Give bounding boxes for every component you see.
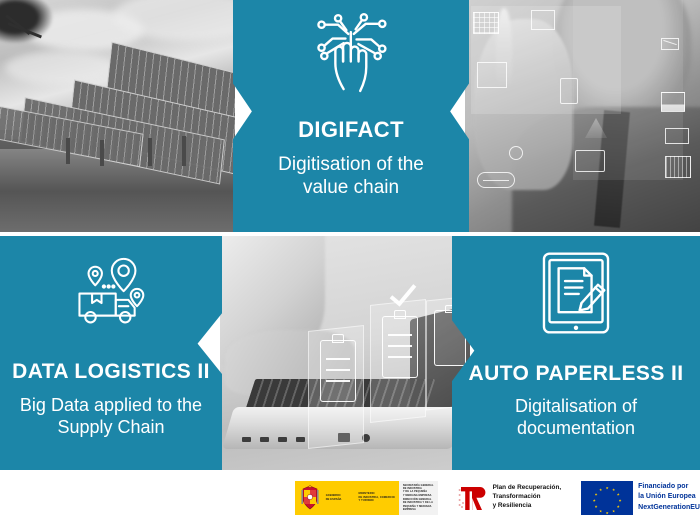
eu-flag-icon bbox=[581, 481, 633, 515]
eu-line-2: la Unión Europea bbox=[638, 492, 700, 502]
panel-auto-paperless[interactable]: AUTO PAPERLESS II Digitalisation of docu… bbox=[452, 236, 700, 470]
gob-side-4: Y MEDIANA EMPRESA bbox=[403, 494, 434, 497]
delivery-truck-location-icon bbox=[70, 254, 152, 330]
panel-post bbox=[148, 138, 152, 166]
circuit-hand-icon bbox=[305, 10, 397, 102]
laptop-port bbox=[242, 437, 251, 442]
clipboard-line bbox=[388, 345, 412, 347]
tablet-document-pencil-icon bbox=[538, 250, 614, 336]
clipboard-line bbox=[326, 380, 350, 382]
plan-de-recuperacion-logo: Plan de Recuperación, Transformación y R… bbox=[458, 483, 562, 513]
wrench-line bbox=[483, 180, 509, 181]
gob-label-block: GOBIERNO DE ESPAÑA bbox=[326, 494, 342, 501]
cloud-shape bbox=[5, 51, 115, 85]
spanish-coat-of-arms-icon bbox=[299, 485, 321, 511]
plan-line-1: Plan de Recuperación, bbox=[493, 484, 562, 493]
panel-post bbox=[182, 136, 186, 166]
clipboard-line bbox=[388, 356, 412, 358]
gob-line-5: Y TURISMO bbox=[359, 499, 395, 503]
gob-line-1: GOBIERNO bbox=[326, 494, 342, 498]
solar-farm-photo bbox=[0, 0, 235, 232]
panel-subtitle: Big Data applied to the Supply Chain bbox=[14, 394, 209, 439]
eu-label-block: Financiado por la Unión Europea NextGene… bbox=[638, 482, 700, 512]
eu-line-1: Financiado por bbox=[638, 482, 700, 492]
panel-post bbox=[66, 138, 70, 164]
panel-post bbox=[100, 140, 104, 166]
footer-logo-strip: GOBIERNO DE ESPAÑA MINISTERIO DE INDUSTR… bbox=[0, 470, 700, 525]
clipboard-line bbox=[388, 334, 412, 336]
clipboard-icon bbox=[382, 316, 418, 378]
panel-subtitle: Digitisation of the value chain bbox=[264, 153, 439, 200]
tr-monogram-icon bbox=[458, 483, 488, 513]
clipboard-clip bbox=[394, 310, 406, 319]
businessman-digital-icons-photo bbox=[465, 0, 700, 232]
gob-side-8: EMPRESA bbox=[403, 508, 434, 511]
secretaria-label-block: SECRETARÍA GENERAL DE INDUSTRIA Y DE LA … bbox=[403, 484, 434, 498]
gob-line-2: DE ESPAÑA bbox=[326, 498, 342, 502]
panel-digifact[interactable]: DIGIFACT Digitisation of the value chain bbox=[233, 0, 469, 232]
laptop-port bbox=[278, 437, 287, 442]
direccion-label-block: DIRECCIÓN GENERAL DE INDUSTRIA Y DE LA P… bbox=[403, 498, 434, 512]
clipboard-icon bbox=[320, 340, 356, 402]
gob-secretaria-block: SECRETARÍA GENERAL DE INDUSTRIA Y DE LA … bbox=[399, 481, 438, 515]
plan-line-3: y Resiliencia bbox=[493, 502, 562, 511]
laptop-port bbox=[260, 437, 269, 442]
clipboard-line bbox=[326, 358, 350, 360]
panel-title: DATA LOGISTICS II bbox=[12, 360, 210, 384]
plan-line-2: Transformación bbox=[493, 493, 562, 502]
clipboard-clip bbox=[332, 334, 344, 343]
laptop-hands-clipboards-photo bbox=[220, 236, 470, 470]
panel-subtitle: Digitalisation of documentation bbox=[474, 395, 679, 440]
hud-glass-panel bbox=[573, 0, 683, 180]
panel-title: DIGIFACT bbox=[298, 118, 404, 143]
laptop-port bbox=[296, 437, 305, 442]
gobierno-de-espana-logo: GOBIERNO DE ESPAÑA MINISTERIO DE INDUSTR… bbox=[295, 481, 438, 515]
gob-yellow-block: GOBIERNO DE ESPAÑA MINISTERIO DE INDUSTR… bbox=[295, 481, 399, 515]
union-europea-logo: Financiado por la Unión Europea NextGene… bbox=[581, 481, 700, 515]
panel-data-logistics[interactable]: DATA LOGISTICS II Big Data applied to th… bbox=[0, 236, 222, 470]
ministerio-label-block: MINISTERIO DE INDUSTRIA, COMERCIO Y TURI… bbox=[359, 492, 395, 503]
plan-label-block: Plan de Recuperación, Transformación y R… bbox=[493, 484, 562, 510]
gear-hud-icon bbox=[509, 146, 523, 160]
poster-root: DIGIFACT Digitisation of the value chain bbox=[0, 0, 700, 525]
clipboard-line bbox=[326, 369, 350, 371]
eu-line-3: NextGenerationEU bbox=[638, 503, 700, 513]
panel-title: AUTO PAPERLESS II bbox=[469, 362, 684, 386]
